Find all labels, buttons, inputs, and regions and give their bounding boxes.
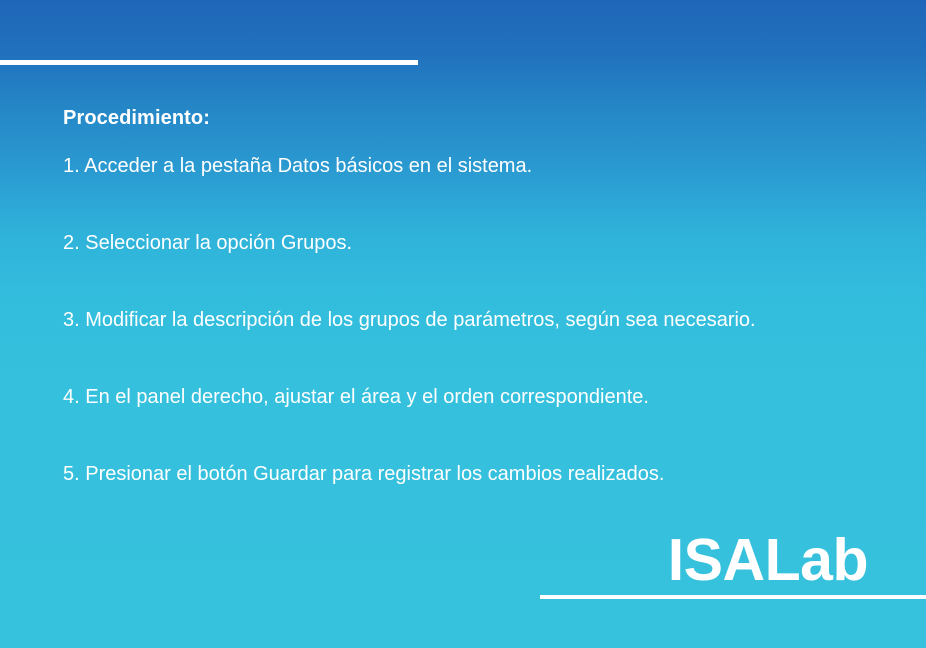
procedure-step-list: 1. Acceder a la pestaña Datos básicos en… xyxy=(63,154,863,487)
list-item: 4. En el panel derecho, ajustar el área … xyxy=(63,385,863,410)
logo-underline-rule xyxy=(540,595,926,599)
slide-root: Procedimiento: 1. Acceder a la pestaña D… xyxy=(0,0,926,648)
list-item: 5. Presionar el botón Guardar para regis… xyxy=(63,462,863,487)
list-item: 1. Acceder a la pestaña Datos básicos en… xyxy=(63,154,863,179)
list-item: 3. Modificar la descripción de los grupo… xyxy=(63,308,863,333)
page-title: Procedimiento: xyxy=(63,106,863,130)
isalab-logo: ISALab xyxy=(668,531,868,590)
top-divider-rule xyxy=(0,60,418,65)
slide-content: Procedimiento: 1. Acceder a la pestaña D… xyxy=(63,106,863,487)
brand-logo-area: ISALab xyxy=(510,516,926,648)
list-item: 2. Seleccionar la opción Grupos. xyxy=(63,231,863,256)
